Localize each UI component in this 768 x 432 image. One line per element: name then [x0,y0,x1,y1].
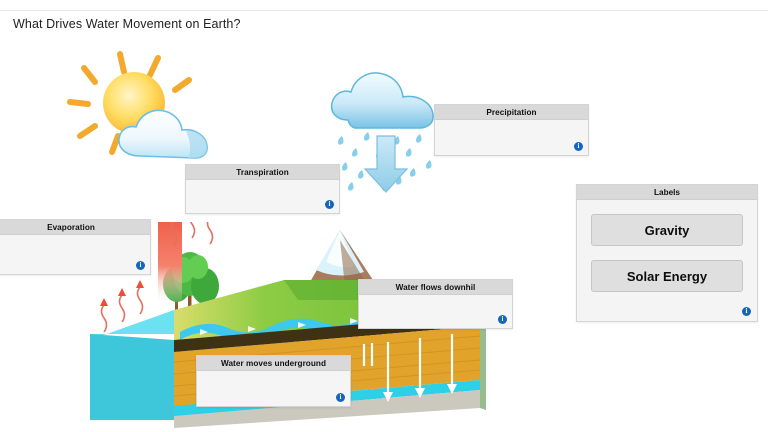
dropzone-water-moves-underground[interactable]: Water moves underground i [196,355,351,407]
dropzone-evaporation-body[interactable]: i [0,235,150,274]
dropzone-water-moves-underground-header: Water moves underground [197,356,350,371]
dropzone-water-flows-downhill-header: Water flows downhil [359,280,512,295]
dropzone-water-flows-downhill[interactable]: Water flows downhil i [358,279,513,329]
dropzone-water-flows-downhill-body[interactable]: i [359,295,512,328]
dropzone-precipitation[interactable]: Precipitation i [434,104,589,156]
dropzone-water-moves-underground-body[interactable]: i [197,371,350,406]
sun-behind-cloud-icon [62,48,232,168]
dropzone-transpiration-body[interactable]: i [186,180,339,213]
labels-panel-header: Labels [577,185,757,200]
info-icon[interactable]: i [498,315,507,324]
labels-panel: Labels Gravity Solar Energy i [576,184,758,322]
label-chip-gravity[interactable]: Gravity [591,214,743,246]
dropzone-evaporation[interactable]: Evaporation i [0,219,151,275]
dropzone-precipitation-header: Precipitation [435,105,588,120]
info-icon[interactable]: i [742,307,751,316]
dropzone-precipitation-body[interactable]: i [435,120,588,155]
info-icon[interactable]: i [136,261,145,270]
info-icon[interactable]: i [336,393,345,402]
labels-panel-body: Gravity Solar Energy i [577,200,757,321]
info-icon[interactable]: i [325,200,334,209]
precipitation-arrow-icon [365,136,407,192]
worksheet-canvas: What Drives Water Movement on Earth? [0,0,768,432]
dropzone-evaporation-header: Evaporation [0,220,150,235]
info-icon[interactable]: i [574,142,583,151]
label-chip-solar-energy[interactable]: Solar Energy [591,260,743,292]
dropzone-transpiration[interactable]: Transpiration i [185,164,340,214]
rain-cloud-icon [322,70,452,195]
dropzone-transpiration-header: Transpiration [186,165,339,180]
